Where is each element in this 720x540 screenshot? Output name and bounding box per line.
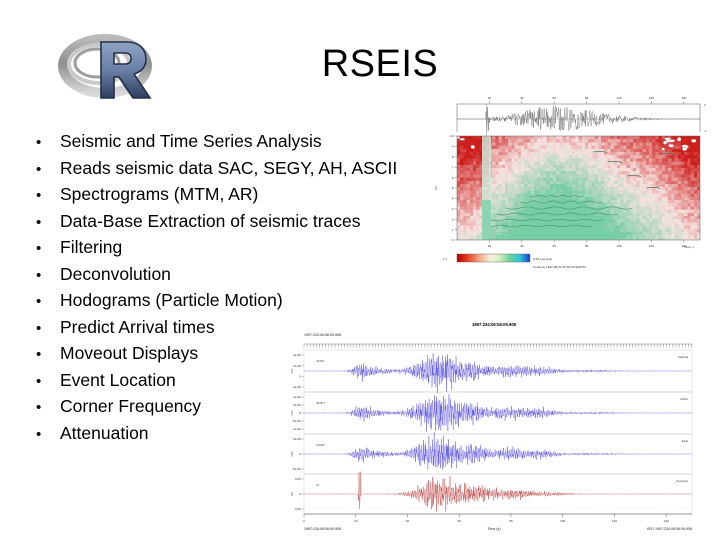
svg-text:100: 100: [616, 244, 621, 248]
bullet-marker: •: [36, 422, 60, 449]
svg-text:120: 120: [649, 244, 654, 248]
list-item-label: Attenuation: [60, 420, 149, 447]
list-item: • Deconvolution: [36, 261, 456, 288]
seismogram-bottom-left-stamp: 1997:234:06:56:09.908: [304, 527, 341, 531]
bullet-marker: •: [36, 395, 60, 422]
bullet-marker: •: [36, 316, 60, 343]
svg-text:20: 20: [488, 244, 492, 248]
svg-text:6: 6: [452, 176, 454, 180]
spectrogram-heatmap: 109876543210 20406080100120140 Hz Time, …: [434, 134, 701, 249]
svg-text:120: 120: [649, 96, 654, 100]
spectrogram-caption: Kourkoly 1997-08-22 06:56:09.908752: [533, 265, 586, 269]
bullet-marker: •: [36, 263, 60, 290]
seismogram-figure: 1997:234:06:56:09.908 1997:234:06:56:09.…: [268, 316, 720, 538]
panel-units: m/s: [290, 451, 294, 456]
svg-text:5e-05: 5e-05: [293, 403, 301, 407]
svg-text:140: 140: [664, 519, 669, 523]
slide-canvas: RSEIS • Seismic and Time Series Analysis…: [0, 0, 720, 540]
r-logo: [57, 26, 154, 108]
colorbar-max-label: 0.99 Log Amp: [533, 257, 552, 261]
spec-trace-min-label: -1: [704, 129, 707, 133]
bullet-marker: •: [36, 130, 60, 157]
svg-text:0: 0: [452, 238, 454, 242]
svg-text:0.05: 0.05: [295, 477, 301, 481]
colorbar-min-label: -1.1: [442, 257, 448, 261]
svg-text:4: 4: [452, 197, 454, 201]
svg-text:20: 20: [354, 519, 358, 523]
panel-scale: x2167: [316, 359, 325, 363]
bullet-marker: •: [36, 157, 60, 184]
svg-text:-2e-05: -2e-05: [292, 385, 301, 389]
list-item-label: Reads seismic data SAC, SEGY, AH, ASCII: [60, 155, 397, 182]
panel-units: m/s: [290, 368, 294, 373]
svg-text:2: 2: [452, 217, 454, 221]
svg-text:2e-05: 2e-05: [293, 364, 301, 368]
svg-text:-0.05: -0.05: [294, 507, 301, 511]
svg-text:60: 60: [552, 244, 556, 248]
svg-text:4e-05: 4e-05: [293, 353, 301, 357]
list-item: • Hodograms (Particle Motion): [36, 287, 456, 314]
list-item: • Reads seismic data SAC, SEGY, AH, ASCI…: [36, 155, 456, 182]
seismogram-bottom-right-stamp: KR1 1997:234:06:56:09.908: [647, 527, 692, 531]
panel-scale: x1032: [316, 443, 325, 447]
svg-text:8: 8: [452, 155, 454, 159]
list-item-label: Filtering: [60, 234, 122, 261]
panel-channel: Vertical: [678, 355, 688, 359]
svg-text:60: 60: [457, 519, 461, 523]
svg-text:80: 80: [585, 96, 589, 100]
svg-text:-1e-04: -1e-04: [292, 427, 301, 431]
spectrogram-figure: 20406080100120140 1 -1 1098: [432, 92, 718, 272]
panel-channel: East: [682, 439, 688, 443]
panel-scale: x1: [316, 483, 320, 487]
bullet-marker: •: [36, 210, 60, 237]
r-logo-icon: [57, 26, 154, 108]
list-item: • Spectrograms (MTM, AR): [36, 181, 456, 208]
svg-text:-5e-05: -5e-05: [292, 419, 301, 423]
spectrogram-svg: 20406080100120140 1 -1 1098: [432, 92, 718, 272]
panel-channel: North: [680, 397, 688, 401]
seismogram-xlabel: Time (s): [487, 527, 500, 531]
svg-text:20: 20: [488, 96, 492, 100]
bullet-marker: •: [36, 183, 60, 210]
svg-text:100: 100: [560, 519, 565, 523]
page-title: RSEIS: [180, 42, 580, 86]
list-item: • Data-Base Extraction of seismic traces: [36, 208, 456, 235]
panel-units: Pa: [290, 492, 294, 496]
panel-scale: x879.7: [316, 401, 326, 405]
svg-text:0: 0: [303, 519, 305, 523]
svg-text:80: 80: [509, 519, 513, 523]
svg-text:120: 120: [612, 519, 617, 523]
seismogram-svg: 1997:234:06:56:09.908 1997:234:06:56:09.…: [268, 316, 720, 538]
spectrogram-xlabel: Time, s: [684, 245, 694, 249]
list-item-label: Seismic and Time Series Analysis: [60, 128, 322, 155]
svg-text:0: 0: [299, 411, 301, 415]
svg-text:5e-05: 5e-05: [293, 437, 301, 441]
svg-text:40: 40: [406, 519, 410, 523]
svg-text:9: 9: [452, 145, 454, 149]
spectrogram-ylabel: Hz: [434, 186, 438, 190]
svg-text:10: 10: [450, 134, 454, 138]
bullet-marker: •: [36, 236, 60, 263]
svg-text:-5e-05: -5e-05: [292, 467, 301, 471]
list-item-label: Deconvolution: [60, 261, 171, 288]
svg-text:7: 7: [452, 165, 454, 169]
bullet-marker: •: [36, 289, 60, 316]
list-item-label: Hodograms (Particle Motion): [60, 287, 283, 314]
svg-text:60: 60: [552, 96, 556, 100]
svg-text:1: 1: [452, 228, 454, 232]
spec-trace-max-label: 1: [704, 103, 706, 107]
list-item-label: Moveout Displays: [60, 340, 198, 367]
panel-channel: Acoustic: [676, 479, 688, 483]
list-item-label: Event Location: [60, 367, 176, 394]
bullet-marker: •: [36, 342, 60, 369]
svg-text:80: 80: [585, 244, 589, 248]
svg-text:1e-04: 1e-04: [293, 395, 301, 399]
svg-text:0: 0: [299, 452, 301, 456]
svg-text:0: 0: [299, 375, 301, 379]
list-item-label: Data-Base Extraction of seismic traces: [60, 208, 361, 235]
svg-text:40: 40: [520, 96, 524, 100]
list-item-label: Corner Frequency: [60, 393, 201, 420]
svg-text:3: 3: [452, 207, 454, 211]
panel-units: m/s: [290, 410, 294, 415]
list-item: • Filtering: [36, 234, 456, 261]
bullet-marker: •: [36, 369, 60, 396]
seismogram-title: 1997:234:06:56:09.908: [472, 322, 517, 327]
svg-text:5: 5: [452, 186, 454, 190]
list-item-label: Predict Arrival times: [60, 314, 215, 341]
list-item-label: Spectrograms (MTM, AR): [60, 181, 258, 208]
list-item: • Seismic and Time Series Analysis: [36, 128, 456, 155]
svg-text:140: 140: [681, 96, 686, 100]
svg-text:100: 100: [616, 96, 621, 100]
seismogram-top-left-stamp: 1997:234:06:56:09.908: [304, 333, 341, 337]
svg-text:0: 0: [299, 492, 301, 496]
svg-text:40: 40: [520, 244, 524, 248]
